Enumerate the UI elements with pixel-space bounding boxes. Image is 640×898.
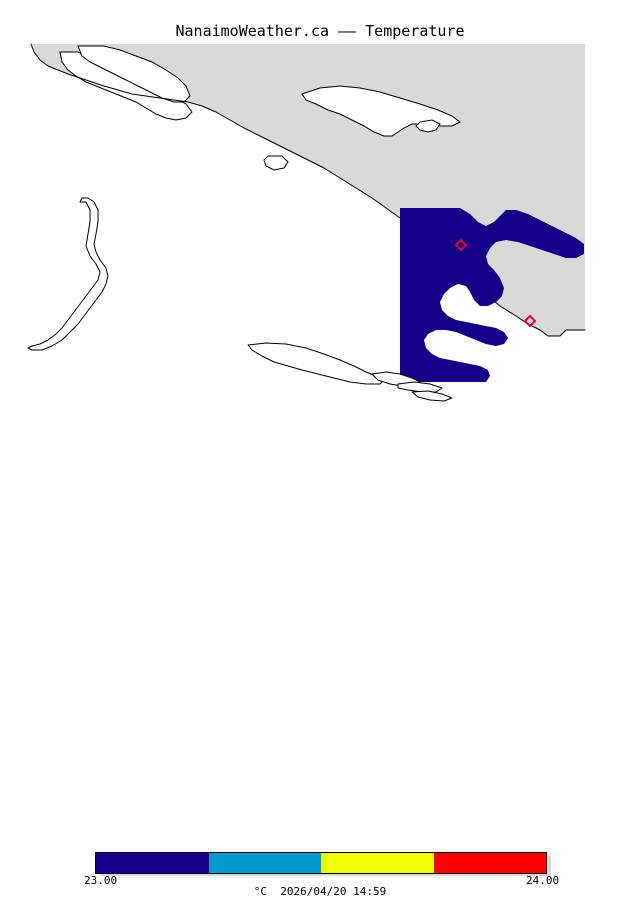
island-long-south bbox=[248, 343, 384, 384]
left-narrow-inlet bbox=[28, 198, 108, 350]
colorbar-segment-yellow bbox=[321, 853, 434, 873]
colorbar[interactable] bbox=[95, 852, 547, 874]
island-sliver-east bbox=[398, 382, 442, 392]
island-spit-far-east bbox=[412, 391, 452, 401]
weather-map-figure: NanaimoWeather.ca —— Temperature bbox=[0, 0, 640, 480]
page-title: NanaimoWeather.ca —— Temperature bbox=[0, 22, 640, 40]
map-panel[interactable] bbox=[0, 40, 640, 410]
map-svg[interactable] bbox=[0, 40, 640, 410]
colorbar-segment-red bbox=[434, 853, 547, 873]
left-channel-layer bbox=[28, 198, 108, 350]
colorbar-group: 23.00 24.00 °C 2026/04/20 14:59 bbox=[0, 424, 640, 480]
channel-notch-right-of-lake bbox=[416, 120, 440, 132]
coastal-notch-center bbox=[264, 156, 288, 170]
colorbar-caption: °C 2026/04/20 14:59 bbox=[0, 885, 640, 898]
colorbar-segment-cyan bbox=[209, 853, 322, 873]
colorbar-segment-navy bbox=[96, 853, 209, 873]
